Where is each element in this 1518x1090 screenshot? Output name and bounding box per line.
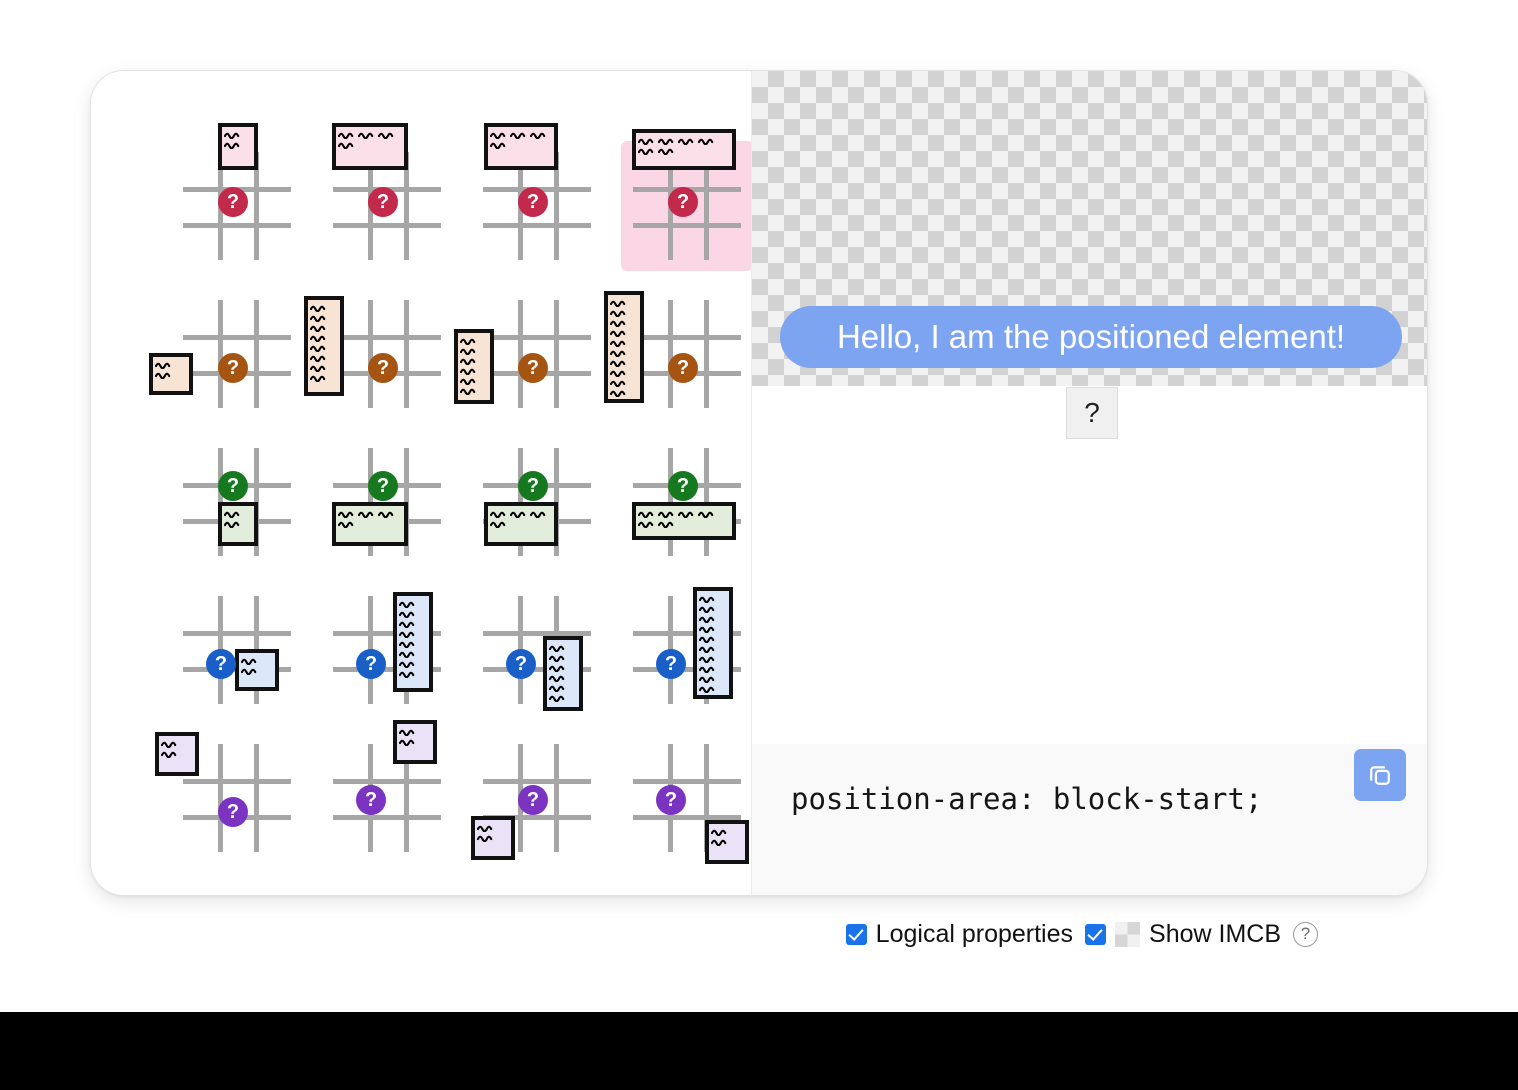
grid-line bbox=[333, 335, 441, 340]
position-area-option[interactable]: ? bbox=[321, 437, 453, 567]
squiggle-text-icon bbox=[224, 130, 242, 139]
position-area-option[interactable]: ? bbox=[321, 141, 453, 271]
positioned-element-bubble: Hello, I am the positioned element! bbox=[780, 306, 1402, 368]
anchor-dot-icon: ? bbox=[656, 785, 686, 815]
squiggle-text-icon bbox=[699, 644, 717, 653]
containing-block-grid-icon: ? bbox=[183, 744, 291, 852]
position-area-option[interactable]: ? bbox=[621, 289, 753, 419]
anchor-dot-icon: ? bbox=[668, 187, 698, 217]
squiggle-text-icon bbox=[698, 136, 716, 145]
squiggle-text-icon bbox=[310, 363, 328, 372]
squiggle-text-icon bbox=[610, 308, 628, 317]
copy-icon bbox=[1366, 761, 1394, 789]
squiggle-text-icon bbox=[490, 519, 508, 528]
containing-block-grid-icon: ? bbox=[633, 744, 741, 852]
containing-block-grid-icon: ? bbox=[483, 448, 591, 556]
anchor-dot-icon: ? bbox=[518, 187, 548, 217]
squiggle-text-icon bbox=[378, 509, 396, 518]
squiggle-text-icon bbox=[510, 509, 528, 518]
squiggle-text-icon bbox=[658, 146, 676, 155]
anchor-dot-icon: ? bbox=[518, 471, 548, 501]
containing-block-grid-icon: ? bbox=[633, 596, 741, 704]
position-area-option[interactable]: ? bbox=[471, 585, 603, 715]
squiggle-text-icon bbox=[399, 619, 417, 628]
squiggle-text-icon bbox=[241, 656, 259, 665]
positioned-element-preview-box bbox=[632, 129, 736, 170]
containing-block-grid-icon: ? bbox=[183, 300, 291, 408]
positioned-element-preview-box bbox=[332, 123, 408, 170]
squiggle-text-icon bbox=[638, 509, 656, 518]
squiggle-text-icon bbox=[549, 683, 567, 692]
position-area-option[interactable]: ? bbox=[171, 437, 303, 567]
position-area-option[interactable]: ? bbox=[171, 141, 303, 271]
positioned-element-preview-box bbox=[149, 353, 193, 395]
containing-block-grid-icon: ? bbox=[633, 152, 741, 260]
squiggle-text-icon bbox=[378, 130, 396, 139]
positioned-element-preview-box bbox=[332, 502, 408, 546]
squiggle-text-icon bbox=[155, 370, 173, 379]
squiggle-text-icon bbox=[224, 509, 242, 518]
anchor-dot-icon: ? bbox=[218, 187, 248, 217]
anchor-dot-icon: ? bbox=[368, 471, 398, 501]
squiggle-text-icon bbox=[610, 378, 628, 387]
anchor-dot-icon: ? bbox=[218, 353, 248, 383]
squiggle-text-icon bbox=[241, 666, 259, 675]
position-area-option[interactable]: ? bbox=[471, 733, 603, 863]
squiggle-text-icon bbox=[490, 509, 508, 518]
grid-line bbox=[333, 223, 441, 228]
squiggle-text-icon bbox=[510, 130, 528, 139]
squiggle-text-icon bbox=[460, 346, 478, 355]
anchor-dot-icon: ? bbox=[356, 785, 386, 815]
squiggle-text-icon bbox=[549, 643, 567, 652]
squiggle-text-icon bbox=[358, 130, 376, 139]
squiggle-text-icon bbox=[610, 338, 628, 347]
anchor-dot-icon: ? bbox=[206, 649, 236, 679]
squiggle-text-icon bbox=[310, 323, 328, 332]
preview-panel: Hello, I am the positioned element! ? po… bbox=[751, 71, 1427, 895]
anchor-dot-icon: ? bbox=[656, 649, 686, 679]
grid-line bbox=[183, 779, 291, 784]
squiggle-text-icon bbox=[658, 509, 676, 518]
squiggle-text-icon bbox=[610, 358, 628, 367]
containing-block-grid-icon: ? bbox=[183, 448, 291, 556]
squiggle-text-icon bbox=[711, 837, 729, 846]
squiggle-text-icon bbox=[699, 664, 717, 673]
positioned-element-preview-box bbox=[705, 820, 749, 864]
containing-block-grid-icon: ? bbox=[333, 744, 441, 852]
position-area-option[interactable]: ? bbox=[321, 585, 453, 715]
grid-line bbox=[254, 300, 259, 408]
squiggle-text-icon bbox=[638, 146, 656, 155]
position-area-option[interactable]: ? bbox=[471, 437, 603, 567]
squiggle-text-icon bbox=[699, 604, 717, 613]
anchor-element-box: ? bbox=[1066, 387, 1118, 439]
squiggle-text-icon bbox=[699, 594, 717, 603]
grid-line bbox=[333, 779, 441, 784]
squiggle-text-icon bbox=[460, 356, 478, 365]
anchor-dot-icon: ? bbox=[518, 353, 548, 383]
squiggle-text-icon bbox=[310, 333, 328, 342]
squiggle-text-icon bbox=[610, 318, 628, 327]
grid-line bbox=[254, 744, 259, 852]
controls-row: Logical properties Show IMCB ? bbox=[0, 920, 1428, 949]
squiggle-text-icon bbox=[338, 140, 356, 149]
grid-line bbox=[554, 744, 559, 852]
positioned-element-preview-box bbox=[393, 720, 437, 764]
squiggle-text-icon bbox=[224, 140, 242, 149]
squiggle-text-icon bbox=[460, 376, 478, 385]
show-imcb-label: Show IMCB bbox=[1149, 920, 1281, 949]
squiggle-text-icon bbox=[399, 639, 417, 648]
anchor-dot-icon: ? bbox=[368, 353, 398, 383]
app-root: ???????????????????? Hello, I am the pos… bbox=[0, 0, 1518, 1090]
containing-block-grid-icon: ? bbox=[333, 596, 441, 704]
squiggle-text-icon bbox=[338, 130, 356, 139]
squiggle-text-icon bbox=[610, 368, 628, 377]
containing-block-grid-icon: ? bbox=[183, 152, 291, 260]
position-area-option[interactable]: ? bbox=[621, 585, 753, 715]
positioned-element-preview-box bbox=[471, 816, 515, 860]
positioned-element-preview-box bbox=[632, 502, 736, 540]
positioned-element-preview-box bbox=[693, 587, 733, 699]
grid-line bbox=[483, 335, 591, 340]
grid-line bbox=[633, 335, 741, 340]
squiggle-text-icon bbox=[699, 684, 717, 693]
squiggle-text-icon bbox=[658, 519, 676, 528]
grid-line bbox=[183, 631, 291, 636]
position-area-icon-grid[interactable]: ???????????????????? bbox=[171, 141, 753, 863]
containing-block-grid-icon: ? bbox=[333, 152, 441, 260]
squiggle-text-icon bbox=[490, 140, 508, 149]
css-declaration-text: position-area: block-start; bbox=[791, 782, 1262, 816]
checkerboard-swatch-icon bbox=[1115, 922, 1140, 947]
grid-line bbox=[183, 223, 291, 228]
squiggle-text-icon bbox=[399, 629, 417, 638]
squiggle-text-icon bbox=[711, 827, 729, 836]
logical-properties-label: Logical properties bbox=[876, 920, 1073, 949]
grid-line bbox=[368, 300, 373, 408]
containing-block-grid-icon: ? bbox=[333, 448, 441, 556]
squiggle-text-icon bbox=[310, 343, 328, 352]
squiggle-text-icon bbox=[338, 519, 356, 528]
squiggle-text-icon bbox=[155, 360, 173, 369]
squiggle-text-icon bbox=[358, 509, 376, 518]
squiggle-text-icon bbox=[399, 599, 417, 608]
positioned-element-preview-box bbox=[393, 592, 433, 692]
position-area-option[interactable]: ? bbox=[621, 141, 753, 271]
squiggle-text-icon bbox=[610, 298, 628, 307]
squiggle-text-icon bbox=[338, 509, 356, 518]
position-area-option[interactable]: ? bbox=[321, 289, 453, 419]
anchor-dot-icon: ? bbox=[368, 187, 398, 217]
containing-block-grid-icon: ? bbox=[633, 448, 741, 556]
anchor-dot-icon: ? bbox=[218, 797, 248, 827]
squiggle-text-icon bbox=[638, 136, 656, 145]
squiggle-text-icon bbox=[310, 303, 328, 312]
show-imcb-control[interactable]: Show IMCB bbox=[1085, 920, 1281, 949]
positioned-element-preview-box bbox=[543, 636, 583, 711]
containing-block-grid-icon: ? bbox=[633, 300, 741, 408]
squiggle-text-icon bbox=[610, 348, 628, 357]
squiggle-text-icon bbox=[698, 509, 716, 518]
squiggle-text-icon bbox=[460, 366, 478, 375]
squiggle-text-icon bbox=[399, 649, 417, 658]
positioned-element-preview-box bbox=[304, 296, 344, 396]
containing-block-grid-icon: ? bbox=[483, 152, 591, 260]
squiggle-text-icon bbox=[477, 833, 495, 842]
grid-line bbox=[704, 300, 709, 408]
grid-line bbox=[633, 223, 741, 228]
squiggle-text-icon bbox=[638, 519, 656, 528]
position-area-option[interactable]: ? bbox=[321, 733, 453, 863]
position-area-option[interactable]: ? bbox=[471, 289, 603, 419]
logical-properties-checkbox[interactable] bbox=[846, 924, 867, 945]
squiggle-text-icon bbox=[678, 509, 696, 518]
position-area-option[interactable]: ? bbox=[171, 585, 303, 715]
position-area-option[interactable]: ? bbox=[171, 289, 303, 419]
positioned-element-preview-box bbox=[155, 732, 199, 776]
position-area-picker-panel: ???????????????????? bbox=[91, 71, 751, 895]
squiggle-text-icon bbox=[699, 614, 717, 623]
grid-line bbox=[404, 300, 409, 408]
grid-line bbox=[218, 744, 223, 852]
squiggle-text-icon bbox=[610, 388, 628, 397]
squiggle-text-icon bbox=[399, 669, 417, 678]
anchor-dot-icon: ? bbox=[506, 649, 536, 679]
squiggle-text-icon bbox=[310, 373, 328, 382]
squiggle-text-icon bbox=[310, 313, 328, 322]
copy-button[interactable] bbox=[1354, 749, 1406, 801]
grid-line bbox=[633, 779, 741, 784]
squiggle-text-icon bbox=[530, 509, 548, 518]
squiggle-text-icon bbox=[530, 130, 548, 139]
anchor-dot-icon: ? bbox=[218, 471, 248, 501]
positioned-element-preview-box bbox=[604, 291, 644, 403]
containing-block-grid-icon: ? bbox=[483, 596, 591, 704]
squiggle-text-icon bbox=[699, 674, 717, 683]
squiggle-text-icon bbox=[399, 659, 417, 668]
preview-checkerboard-canvas: Hello, I am the positioned element! bbox=[752, 71, 1428, 386]
show-imcb-checkbox[interactable] bbox=[1085, 924, 1106, 945]
position-area-option[interactable]: ? bbox=[471, 141, 603, 271]
squiggle-text-icon bbox=[549, 663, 567, 672]
squiggle-text-icon bbox=[490, 130, 508, 139]
grid-line bbox=[668, 300, 673, 408]
grid-line bbox=[483, 779, 591, 784]
page-bottom-bar bbox=[0, 1012, 1518, 1090]
grid-line bbox=[554, 300, 559, 408]
positioned-element-preview-box bbox=[218, 502, 258, 546]
squiggle-text-icon bbox=[399, 609, 417, 618]
grid-line bbox=[518, 300, 523, 408]
position-area-option[interactable]: ? bbox=[621, 437, 753, 567]
grid-line bbox=[333, 815, 441, 820]
positioned-element-preview-box bbox=[484, 502, 558, 546]
containing-block-grid-icon: ? bbox=[483, 744, 591, 852]
squiggle-text-icon bbox=[161, 749, 179, 758]
position-area-option[interactable]: ? bbox=[171, 733, 303, 863]
code-output-panel: position-area: block-start; bbox=[752, 744, 1428, 896]
squiggle-text-icon bbox=[549, 693, 567, 702]
position-area-option[interactable]: ? bbox=[621, 733, 753, 863]
squiggle-text-icon bbox=[161, 739, 179, 748]
squiggle-text-icon bbox=[399, 737, 417, 746]
squiggle-text-icon bbox=[678, 136, 696, 145]
grid-line bbox=[218, 300, 223, 408]
grid-line bbox=[483, 223, 591, 228]
squiggle-text-icon bbox=[549, 653, 567, 662]
squiggle-text-icon bbox=[610, 328, 628, 337]
grid-line bbox=[183, 335, 291, 340]
anchor-dot-icon: ? bbox=[518, 785, 548, 815]
anchor-dot-icon: ? bbox=[668, 353, 698, 383]
squiggle-text-icon bbox=[699, 634, 717, 643]
anchor-dot-icon: ? bbox=[668, 471, 698, 501]
containing-block-grid-icon: ? bbox=[333, 300, 441, 408]
squiggle-text-icon bbox=[477, 823, 495, 832]
squiggle-text-icon bbox=[549, 673, 567, 682]
squiggle-text-icon bbox=[399, 727, 417, 736]
squiggle-text-icon bbox=[460, 336, 478, 345]
containing-block-grid-icon: ? bbox=[183, 596, 291, 704]
squiggle-text-icon bbox=[310, 353, 328, 362]
squiggle-text-icon bbox=[699, 654, 717, 663]
squiggle-text-icon bbox=[460, 386, 478, 395]
positioned-element-preview-box bbox=[235, 649, 279, 691]
help-icon[interactable]: ? bbox=[1293, 922, 1318, 947]
positioned-element-preview-box bbox=[454, 329, 494, 404]
containing-block-grid-icon: ? bbox=[483, 300, 591, 408]
squiggle-text-icon bbox=[224, 519, 242, 528]
squiggle-text-icon bbox=[658, 136, 676, 145]
positioned-element-preview-box bbox=[218, 123, 258, 170]
visualizer-card: ???????????????????? Hello, I am the pos… bbox=[90, 70, 1428, 896]
positioned-element-preview-box bbox=[484, 123, 558, 170]
logical-properties-control[interactable]: Logical properties bbox=[846, 920, 1073, 949]
squiggle-text-icon bbox=[699, 624, 717, 633]
anchor-dot-icon: ? bbox=[356, 649, 386, 679]
